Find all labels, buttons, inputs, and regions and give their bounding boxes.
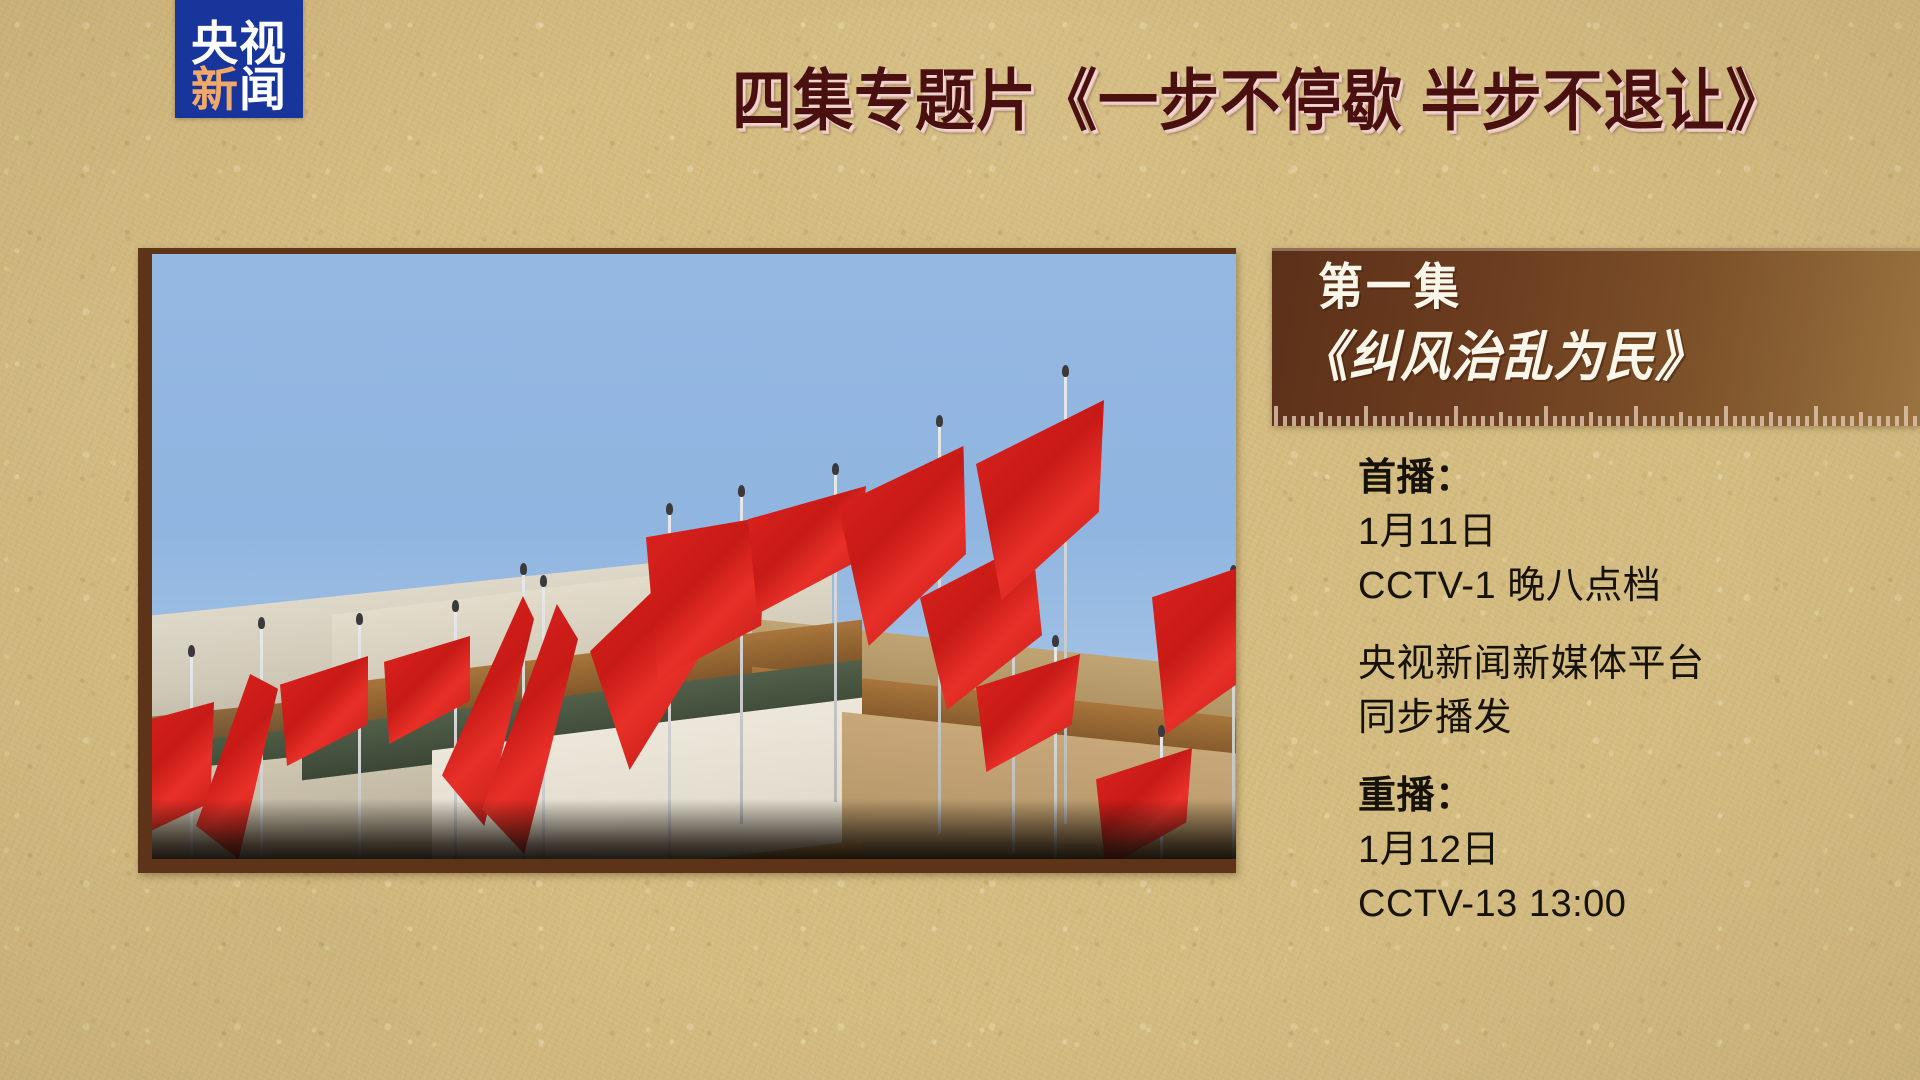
ruler-tick (1859, 412, 1863, 426)
ruler-tick (1382, 416, 1386, 426)
ruler-tick (1544, 406, 1548, 426)
premiere-label: 首播： (1358, 452, 1705, 506)
ruler-tick (1310, 416, 1314, 426)
logo-line-1: 央视 (191, 21, 287, 67)
ruler-tick (1868, 416, 1872, 426)
photo-frame (138, 248, 1236, 873)
ruler-tick (1751, 416, 1755, 426)
program-headline: 四集专题片《一步不停歇 半步不退让》 (732, 68, 1787, 135)
logo-text-top: 央视 (191, 21, 287, 67)
ruler-tick (1436, 416, 1440, 426)
ruler-tick (1841, 416, 1845, 426)
ruler-tick (1796, 416, 1800, 426)
premiere-channel-time: CCTV-1 晚八点档 (1358, 560, 1705, 614)
ruler-tick (1598, 416, 1602, 426)
logo-line-2: 新 闻 (191, 67, 287, 113)
ruler-tick (1913, 416, 1917, 426)
ruler-tick (1517, 416, 1521, 426)
ruler-tick (1769, 412, 1773, 426)
ruler-tick (1328, 416, 1332, 426)
ruler-tick (1715, 416, 1719, 426)
ruler-tick (1760, 416, 1764, 426)
ruler-tick (1823, 416, 1827, 426)
ruler-tick (1364, 406, 1368, 426)
ruler-tick (1472, 416, 1476, 426)
ruler-tick (1643, 416, 1647, 426)
ruler-tick (1724, 406, 1728, 426)
ruler-tick (1814, 406, 1818, 426)
premiere-date: 1月11日 (1358, 506, 1705, 560)
ruler-tick (1625, 416, 1629, 426)
rerun-date: 1月12日 (1358, 824, 1705, 878)
ruler-tick (1877, 416, 1881, 426)
logo-text-bottom-accent: 新 (191, 67, 239, 113)
cctv-news-logo: 央视 新 闻 (175, 0, 303, 118)
ruler-tick (1346, 416, 1350, 426)
ruler-tick (1589, 412, 1593, 426)
ruler-tick (1526, 416, 1530, 426)
ruler-tick (1697, 416, 1701, 426)
ruler-tick (1670, 416, 1674, 426)
simulcast-platform: 央视新闻新媒体平台 (1358, 638, 1705, 692)
banner-ruler-ticks (1272, 402, 1920, 426)
episode-title: 《纠风治乱为民》 (1298, 330, 1706, 384)
ruler-tick (1679, 412, 1683, 426)
ruler-tick (1490, 416, 1494, 426)
ruler-tick (1634, 406, 1638, 426)
ruler-tick (1535, 416, 1539, 426)
ruler-tick (1904, 406, 1908, 426)
ruler-tick (1553, 416, 1557, 426)
ruler-tick (1301, 416, 1305, 426)
ruler-tick (1274, 406, 1278, 426)
ruler-tick (1580, 416, 1584, 426)
ruler-tick (1805, 416, 1809, 426)
ruler-tick (1283, 416, 1287, 426)
ruler-tick (1319, 412, 1323, 426)
ruler-tick (1409, 412, 1413, 426)
simulcast-block: 央视新闻新媒体平台 同步播发 (1358, 638, 1705, 746)
ruler-tick (1373, 416, 1377, 426)
ruler-tick (1427, 416, 1431, 426)
ruler-tick (1706, 416, 1710, 426)
ruler-tick (1292, 416, 1296, 426)
ruler-tick (1337, 416, 1341, 426)
ruler-tick (1499, 412, 1503, 426)
ruler-tick (1733, 416, 1737, 426)
rerun-channel-time: CCTV-13 13:00 (1358, 878, 1705, 932)
photo-great-hall (152, 254, 1236, 859)
poster-canvas: 央视 新 闻 四集专题片《一步不停歇 半步不退让》 (0, 0, 1920, 1080)
logo-text-bottom-rest: 闻 (239, 67, 287, 113)
premiere-block: 首播： 1月11日 CCTV-1 晚八点档 (1358, 452, 1705, 614)
ruler-tick (1508, 416, 1512, 426)
banner-top-highlight (1272, 248, 1920, 251)
ruler-tick (1562, 416, 1566, 426)
ruler-tick (1742, 416, 1746, 426)
ruler-tick (1832, 416, 1836, 426)
ruler-tick (1886, 416, 1890, 426)
rerun-label: 重播： (1358, 770, 1705, 824)
episode-banner: 第一集 《纠风治乱为民》 (1272, 248, 1920, 426)
ruler-tick (1445, 416, 1449, 426)
rerun-block: 重播： 1月12日 CCTV-13 13:00 (1358, 770, 1705, 932)
ruler-tick (1463, 416, 1467, 426)
ruler-tick (1481, 416, 1485, 426)
ruler-tick (1850, 416, 1854, 426)
ruler-tick (1571, 416, 1575, 426)
ruler-tick (1355, 416, 1359, 426)
ruler-tick (1418, 416, 1422, 426)
ruler-tick (1652, 416, 1656, 426)
episode-number-label: 第一集 (1318, 262, 1462, 312)
ruler-tick (1454, 406, 1458, 426)
ruler-tick (1778, 416, 1782, 426)
ruler-tick (1607, 416, 1611, 426)
ruler-tick (1661, 416, 1665, 426)
broadcast-info: 首播： 1月11日 CCTV-1 晚八点档 央视新闻新媒体平台 同步播发 重播：… (1358, 452, 1705, 932)
photo-bottom-shadow (152, 799, 1236, 859)
ruler-tick (1400, 416, 1404, 426)
ruler-tick (1688, 416, 1692, 426)
ruler-tick (1616, 416, 1620, 426)
ruler-tick (1391, 416, 1395, 426)
ruler-tick (1787, 416, 1791, 426)
simulcast-note: 同步播发 (1358, 692, 1705, 746)
ruler-tick (1895, 416, 1899, 426)
